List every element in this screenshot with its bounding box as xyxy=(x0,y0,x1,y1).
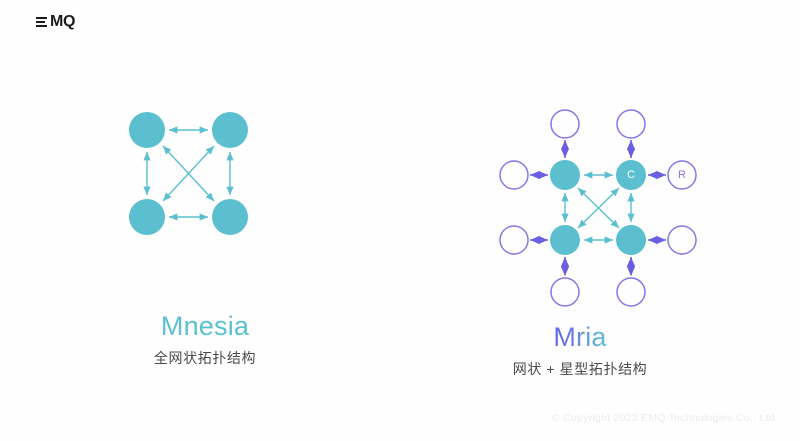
mnesia-caption: Mnesia 全网状拓扑结构 xyxy=(35,310,375,368)
node-top-right xyxy=(212,112,248,148)
mria-subtitle: 网状 + 星型拓扑结构 xyxy=(410,360,750,380)
replica-node-right-upper-label: R xyxy=(678,169,686,181)
mria-diagram: R C xyxy=(410,88,750,316)
replica-node-top-left xyxy=(551,110,579,138)
panel-mria: R C Mria 网状 + 星型拓扑结构 xyxy=(410,88,750,388)
mnesia-diagram xyxy=(35,88,375,316)
panel-mnesia: Mnesia 全网状拓扑结构 xyxy=(35,88,375,388)
replica-node-bottom-right xyxy=(617,278,645,306)
mria-title-wrap: Mria xyxy=(410,321,750,355)
mnesia-title: Mnesia xyxy=(35,310,375,344)
copyright-footer: © Copyright 2022 EMQ Technologies Co., L… xyxy=(552,412,778,424)
emq-logo-text: MQ xyxy=(50,14,75,30)
emq-logo: MQ xyxy=(36,14,75,30)
mria-caption: Mria 网状 + 星型拓扑结构 xyxy=(410,321,750,379)
core-node-bottom-right xyxy=(616,225,646,255)
node-top-left xyxy=(129,112,165,148)
replica-node-right-lower xyxy=(668,226,696,254)
replica-node-top-right xyxy=(617,110,645,138)
replica-node-bottom-left xyxy=(551,278,579,306)
mria-title: Mria xyxy=(553,321,606,355)
mnesia-subtitle: 全网状拓扑结构 xyxy=(35,349,375,369)
core-node-top-left xyxy=(550,160,580,190)
replica-node-left-lower xyxy=(500,226,528,254)
core-node-top-right-label: C xyxy=(627,169,635,181)
node-bottom-right xyxy=(212,199,248,235)
replica-node-left-upper xyxy=(500,161,528,189)
core-node-bottom-left xyxy=(550,225,580,255)
emq-logo-bars-icon xyxy=(36,17,47,27)
node-bottom-left xyxy=(129,199,165,235)
